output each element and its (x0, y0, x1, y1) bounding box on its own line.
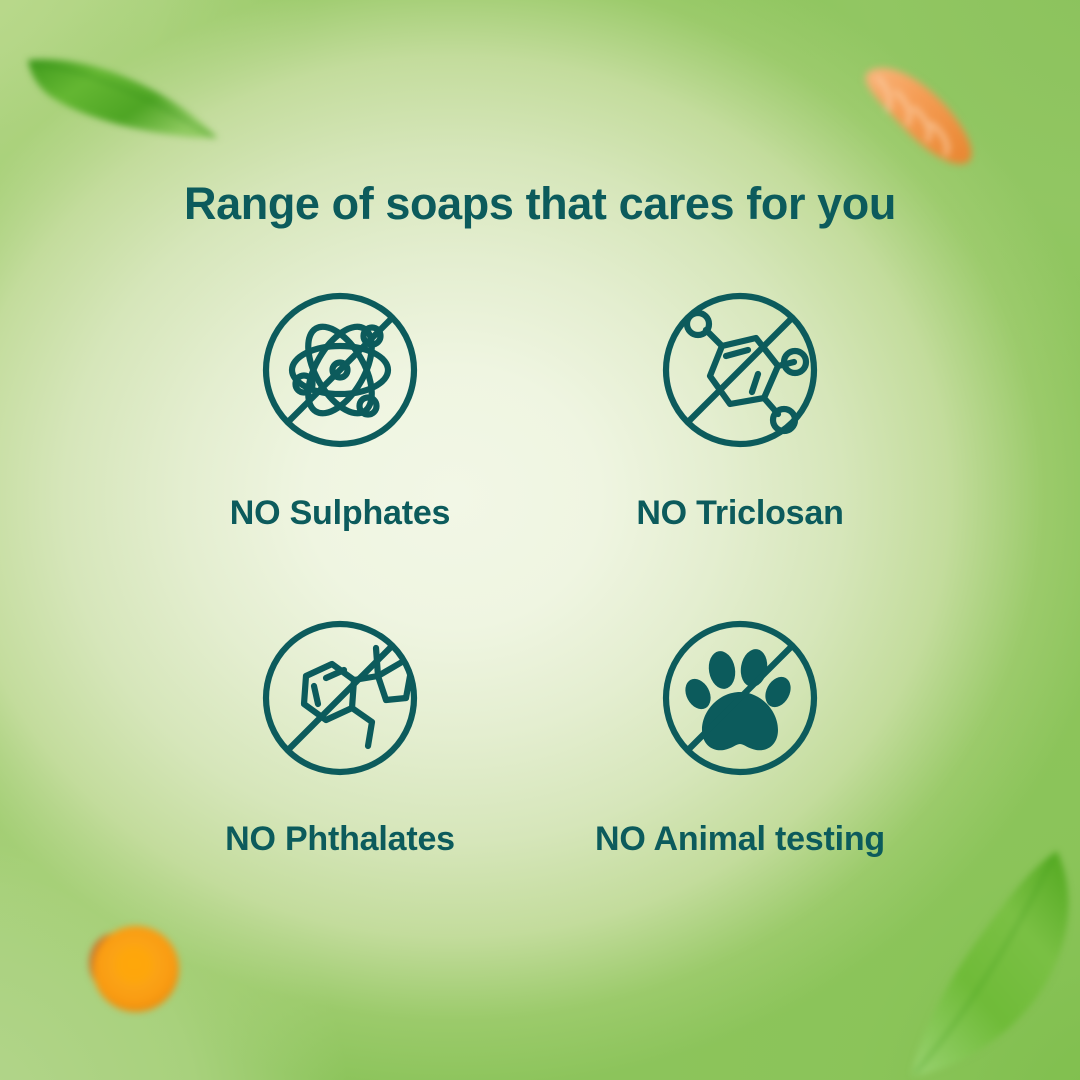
feature-label: NO Triclosan (636, 494, 843, 533)
feature-no-animal-testing: NO Animal testing (540, 618, 940, 868)
no-phthalate-icon (260, 618, 420, 778)
no-molecule-icon (660, 290, 820, 450)
feature-no-phthalates: NO Phthalates (140, 618, 540, 868)
page-title: Range of soaps that cares for you (0, 180, 1080, 229)
feature-label: NO Phthalates (225, 820, 455, 859)
feature-no-triclosan: NO Triclosan (540, 290, 940, 540)
promo-graphic: Range of soaps that cares for you (0, 0, 1080, 1080)
feature-no-sulphates: NO Sulphates (140, 290, 540, 540)
no-paw-icon (660, 618, 820, 778)
no-atom-icon (260, 290, 420, 450)
feature-grid: NO Sulphates (140, 290, 940, 868)
feature-label: NO Sulphates (230, 494, 451, 533)
feature-label: NO Animal testing (595, 820, 885, 859)
